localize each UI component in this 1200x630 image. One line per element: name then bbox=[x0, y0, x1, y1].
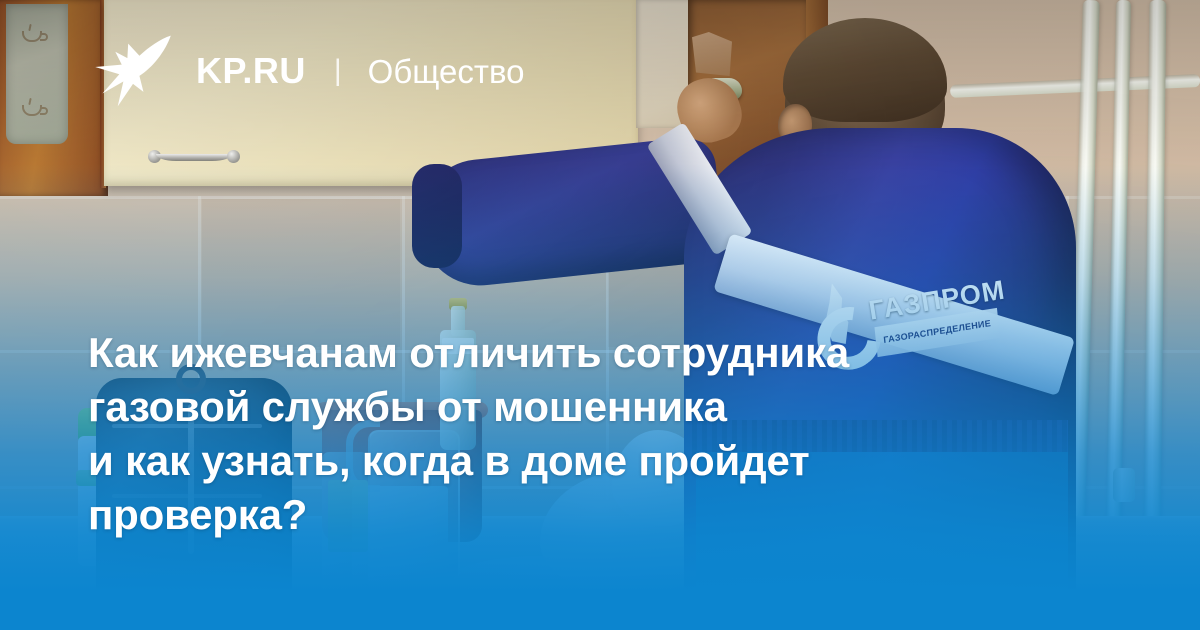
headline-line-3: и как узнать, когда в доме пройдет bbox=[88, 434, 1088, 488]
brand-name[interactable]: KP.RU bbox=[196, 53, 306, 89]
social-share-card: ГАЗПРОМ ГАЗОРАСПРЕДЕЛЕНИЕ KP.RU | Общест… bbox=[0, 0, 1200, 630]
brand-header: KP.RU | Общество bbox=[92, 34, 525, 108]
headline-line-4: проверка? bbox=[88, 488, 1088, 542]
headline-line-2: газовой службы от мошенника bbox=[88, 380, 1088, 434]
rubric-label[interactable]: Общество bbox=[368, 55, 525, 88]
headline-line-1: Как ижевчанам отличить сотрудника bbox=[88, 326, 1088, 380]
headline: Как ижевчанам отличить сотрудника газово… bbox=[88, 326, 1088, 542]
header-separator: | bbox=[334, 56, 342, 86]
kp-swallow-bird-icon[interactable] bbox=[92, 34, 174, 108]
